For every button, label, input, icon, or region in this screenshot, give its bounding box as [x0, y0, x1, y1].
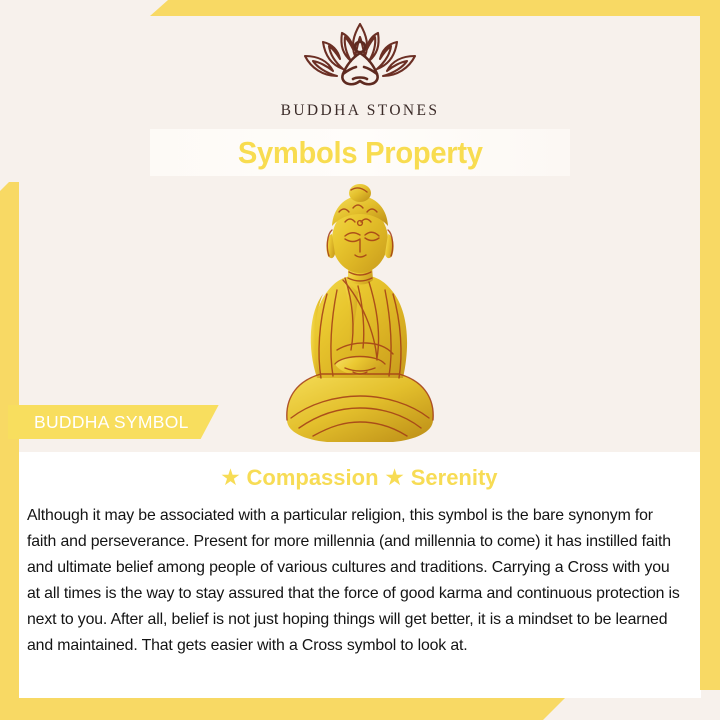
page-title: Symbols Property	[238, 135, 483, 171]
virtues-heading: ★ Compassion ★ Serenity	[19, 452, 701, 491]
brand-logo-block: BUDDHA STONES	[0, 16, 720, 120]
frame-band-left	[0, 182, 19, 720]
virtue-label-1: Compassion	[247, 465, 379, 490]
brand-name: BUDDHA STONES	[0, 102, 720, 120]
star-icon-1: ★	[221, 467, 239, 489]
content-panel: ★ Compassion ★ Serenity Although it may …	[19, 452, 701, 698]
symbol-tag-label: BUDDHA SYMBOL	[34, 412, 189, 433]
poster-root: BUDDHA STONES Symbols Property	[0, 0, 720, 720]
lotus-meditation-icon	[0, 16, 720, 96]
status-badge-buddha-symbol: BUDDHA SYMBOL	[8, 405, 219, 439]
star-icon-2: ★	[386, 467, 404, 489]
frame-band-top	[150, 0, 720, 16]
virtue-label-2: Serenity	[411, 465, 498, 490]
description-paragraph: Although it may be associated with a par…	[27, 502, 682, 658]
title-band: Symbols Property	[150, 129, 570, 176]
frame-band-bottom	[0, 698, 565, 720]
